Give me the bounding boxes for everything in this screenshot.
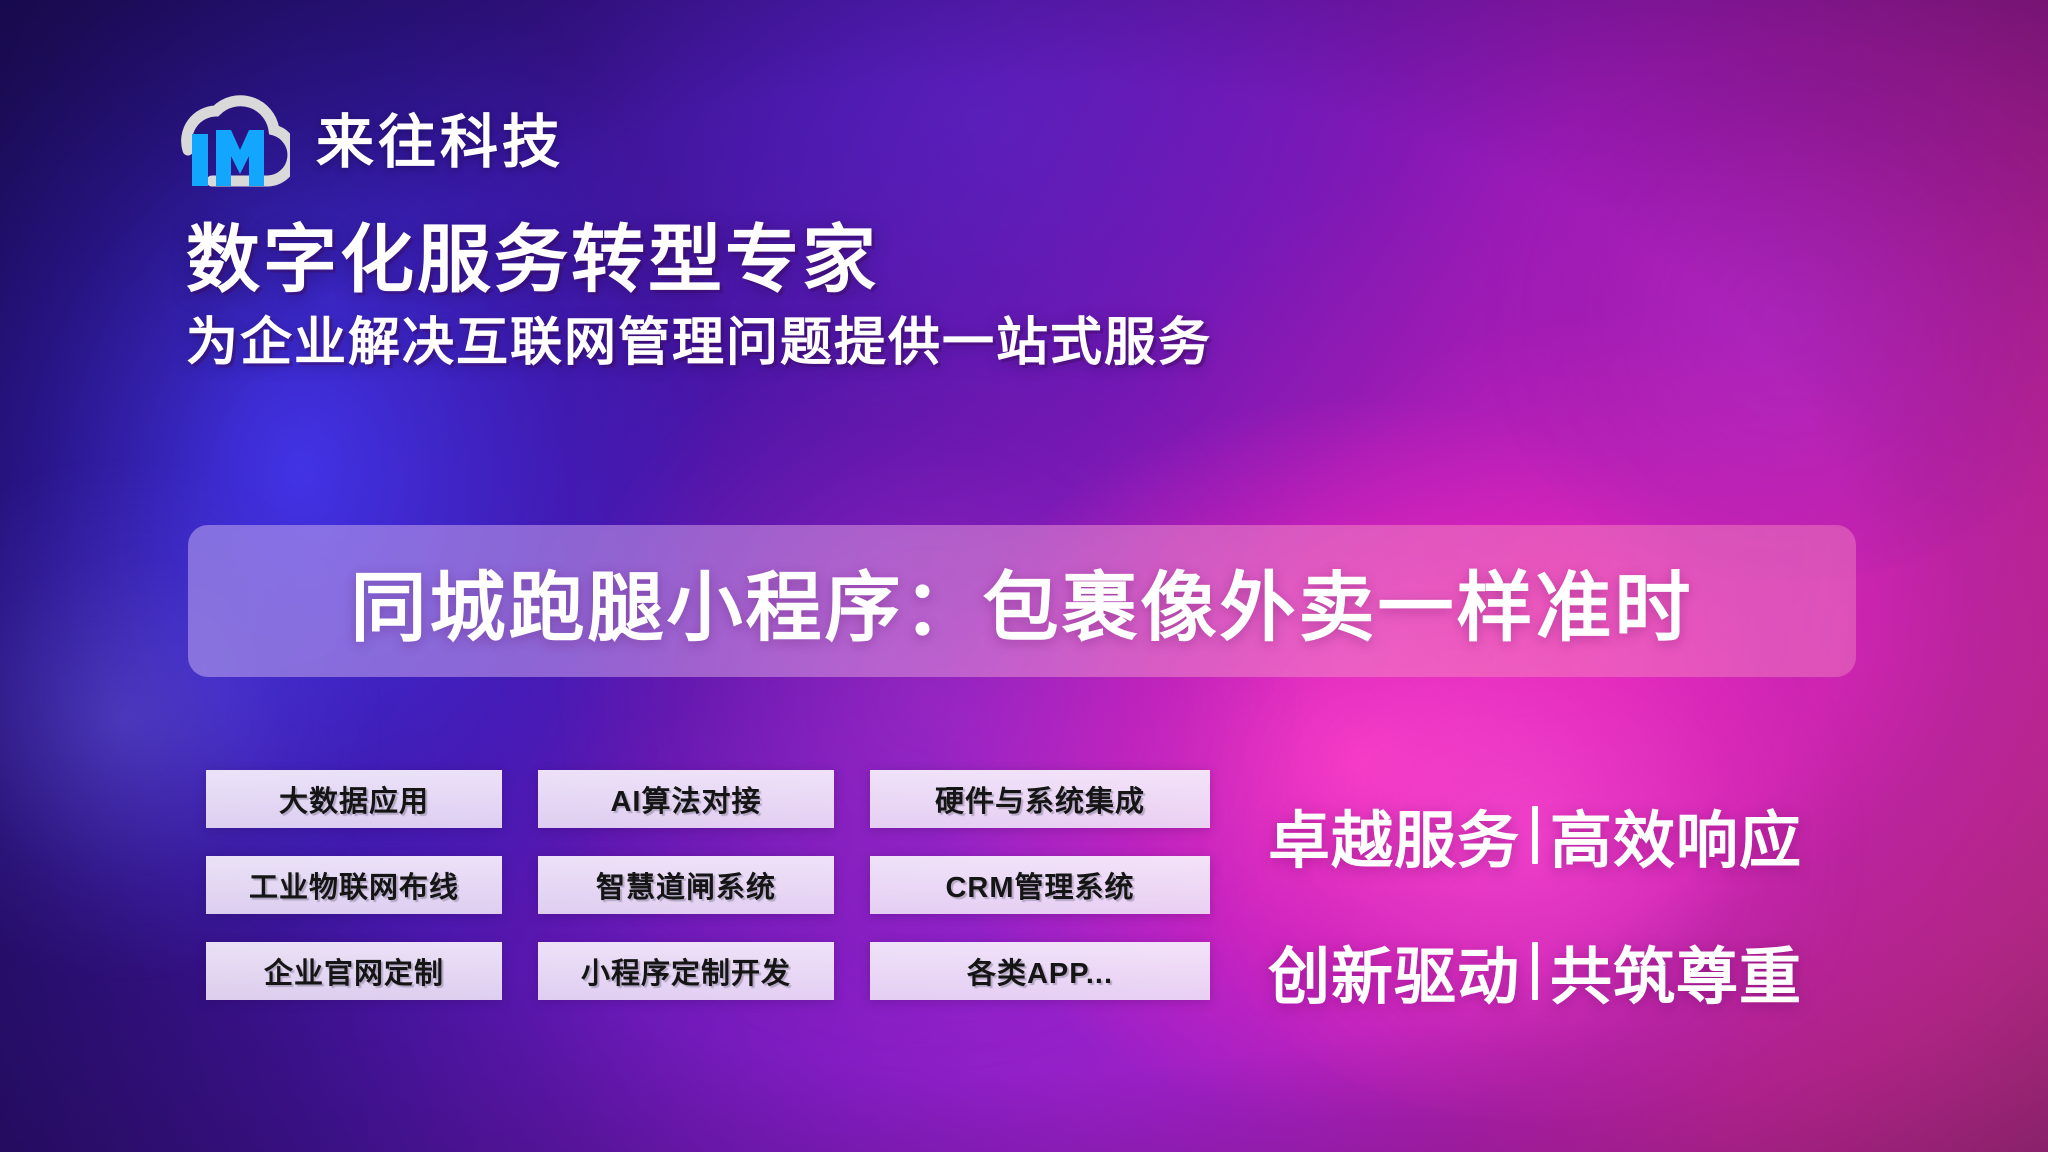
cloud-lw-monogram-icon — [178, 86, 290, 188]
slogan-line-2: 创新驱动 共筑尊重 — [1268, 926, 1928, 1016]
slogan-block: 卓越服务 高效响应 创新驱动 共筑尊重 — [1268, 790, 1928, 1016]
light-blob-topright — [1480, 60, 2048, 580]
slogan-line-2-left: 创新驱动 — [1268, 926, 1520, 1016]
feature-banner-text: 同城跑腿小程序：包裹像外卖一样准时 — [351, 546, 1694, 656]
banner-canvas: 来往科技 数字化服务转型专家 为企业解决互联网管理问题提供一站式服务 同城跑腿小… — [0, 0, 2048, 1152]
feature-banner: 同城跑腿小程序：包裹像外卖一样准时 — [188, 525, 1856, 677]
service-tag[interactable]: AI算法对接 — [538, 770, 834, 828]
service-tag[interactable]: 小程序定制开发 — [538, 942, 834, 1000]
slogan-line-1-left: 卓越服务 — [1268, 790, 1520, 880]
service-tag[interactable]: 大数据应用 — [206, 770, 502, 828]
service-tag[interactable]: 智慧道闸系统 — [538, 856, 834, 914]
service-tag[interactable]: CRM管理系统 — [870, 856, 1210, 914]
slogan-line-1-right: 高效响应 — [1550, 790, 1802, 880]
service-tag[interactable]: 企业官网定制 — [206, 942, 502, 1000]
slogan-separator-icon — [1532, 806, 1538, 864]
brand-name: 来往科技 — [316, 95, 564, 179]
page-title: 数字化服务转型专家 — [186, 200, 879, 307]
page-subtitle: 为企业解决互联网管理问题提供一站式服务 — [186, 300, 1212, 375]
service-tag[interactable]: 硬件与系统集成 — [870, 770, 1210, 828]
slogan-line-2-right: 共筑尊重 — [1550, 926, 1802, 1016]
brand-logo[interactable]: 来往科技 — [178, 86, 564, 188]
service-tag[interactable]: 工业物联网布线 — [206, 856, 502, 914]
slogan-separator-icon — [1532, 942, 1538, 1000]
service-tag-grid: 大数据应用 AI算法对接 硬件与系统集成 工业物联网布线 智慧道闸系统 CRM管… — [206, 770, 1210, 1000]
slogan-line-1: 卓越服务 高效响应 — [1268, 790, 1928, 880]
service-tag[interactable]: 各类APP... — [870, 942, 1210, 1000]
